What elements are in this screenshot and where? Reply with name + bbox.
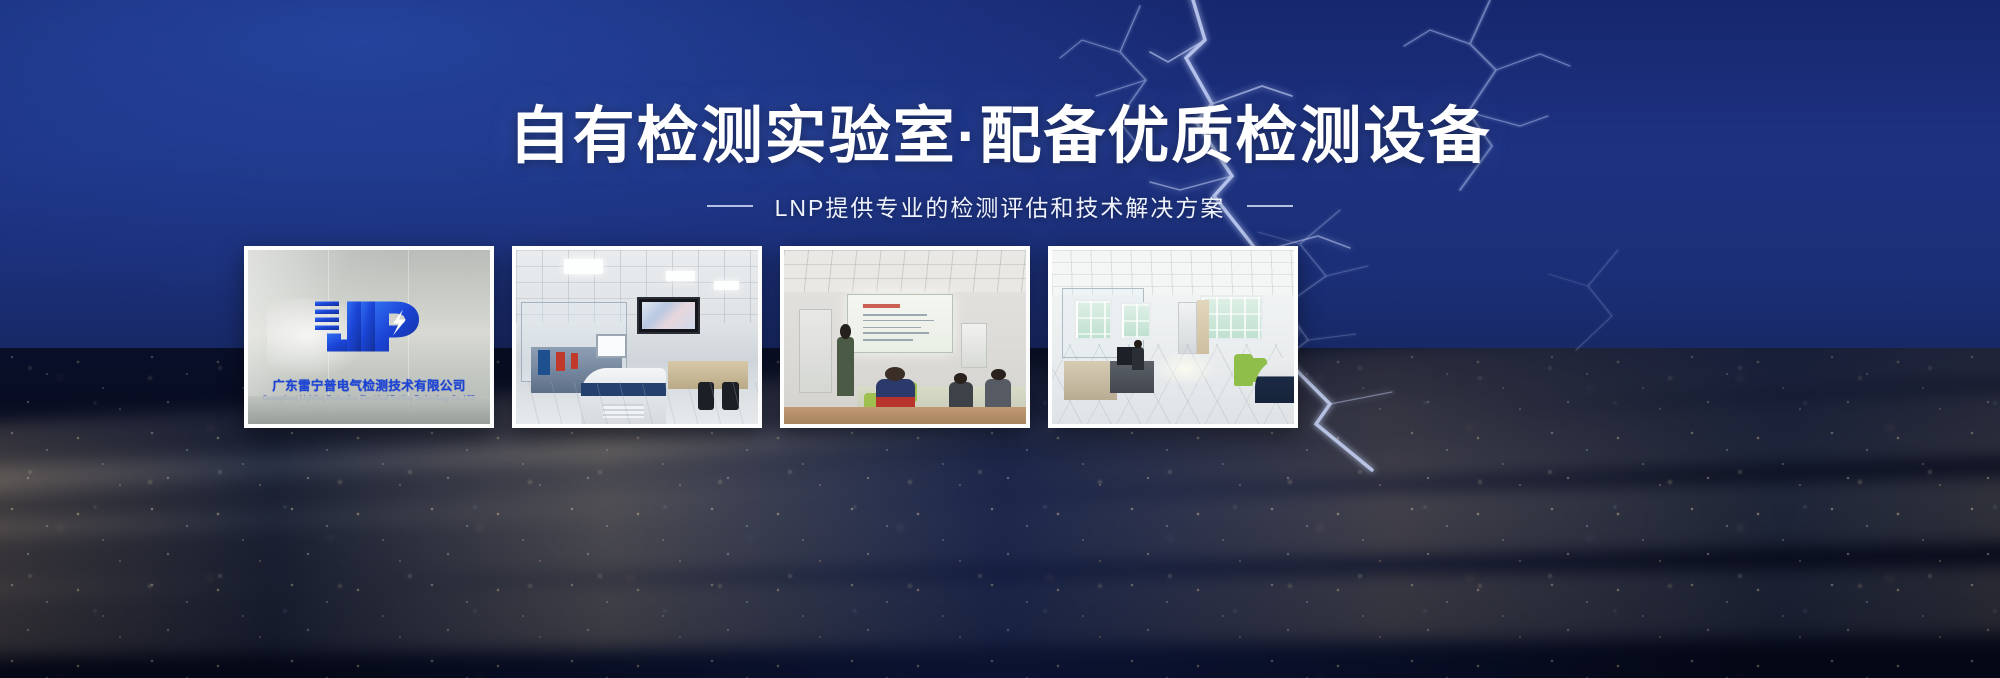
gallery-card-signage[interactable]: 广东雷宁普电气检测技术有限公司 Guangdong Lighting Prote… (244, 246, 494, 428)
photo-signage: 广东雷宁普电气检测技术有限公司 Guangdong Lighting Prote… (248, 250, 490, 424)
slide-title-bar (863, 304, 901, 308)
rule-left-icon (707, 205, 753, 207)
slide-text-line (863, 332, 930, 334)
company-name-cn: 广东雷宁普电气检测技术有限公司 (272, 379, 466, 393)
wood-floor (784, 407, 1026, 424)
lnp-logo-icon (313, 293, 425, 360)
gallery-card-laboratory[interactable] (512, 246, 762, 428)
rule-right-icon (1247, 205, 1293, 207)
slide-text-line (863, 314, 928, 316)
projection-screen (847, 294, 953, 353)
photo-meeting-room (784, 250, 1026, 424)
ceiling-light (714, 281, 738, 290)
hero-banner: 自有检测实验室·配备优质检测设备 LNP提供专业的检测评估和技术解决方案 (0, 0, 2000, 678)
equipment-blue-unit (538, 350, 550, 375)
wall-cabinet (961, 323, 988, 368)
gallery-card-meeting[interactable] (780, 246, 1030, 428)
seated-worker (1132, 347, 1144, 370)
banner-subtitle-row: LNP提供专业的检测评估和技术解决方案 (0, 189, 2000, 223)
slide-text-line (863, 320, 934, 322)
gallery-card-office[interactable] (1048, 246, 1298, 428)
gallery-row: 广东雷宁普电气检测技术有限公司 Guangdong Lighting Prote… (244, 246, 1298, 428)
photo-laboratory (516, 250, 758, 424)
equipment-red-unit (571, 353, 578, 369)
ceiling-light (666, 271, 695, 281)
equipment-red-unit (556, 352, 564, 371)
wall-monitor (637, 297, 700, 334)
floor-strip (248, 396, 490, 424)
ceiling-light (564, 259, 603, 275)
slide-text-line (863, 327, 922, 329)
banner-subtitle: LNP提供专业的检测评估和技术解决方案 (775, 189, 1226, 223)
banner-headline: 自有检测实验室·配备优质检测设备 (0, 100, 2000, 173)
room-door (799, 309, 833, 393)
window (1120, 302, 1151, 340)
window (1074, 299, 1113, 341)
sunlight-patch (1154, 351, 1217, 386)
slide-text-line (863, 339, 913, 341)
floor-tiles (516, 382, 758, 424)
photo-office (1052, 250, 1294, 424)
control-monitor (596, 334, 627, 358)
banner-text-block: 自有检测实验室·配备优质检测设备 LNP提供专业的检测评估和技术解决方案 (0, 0, 2000, 223)
presenter-person (837, 337, 854, 396)
